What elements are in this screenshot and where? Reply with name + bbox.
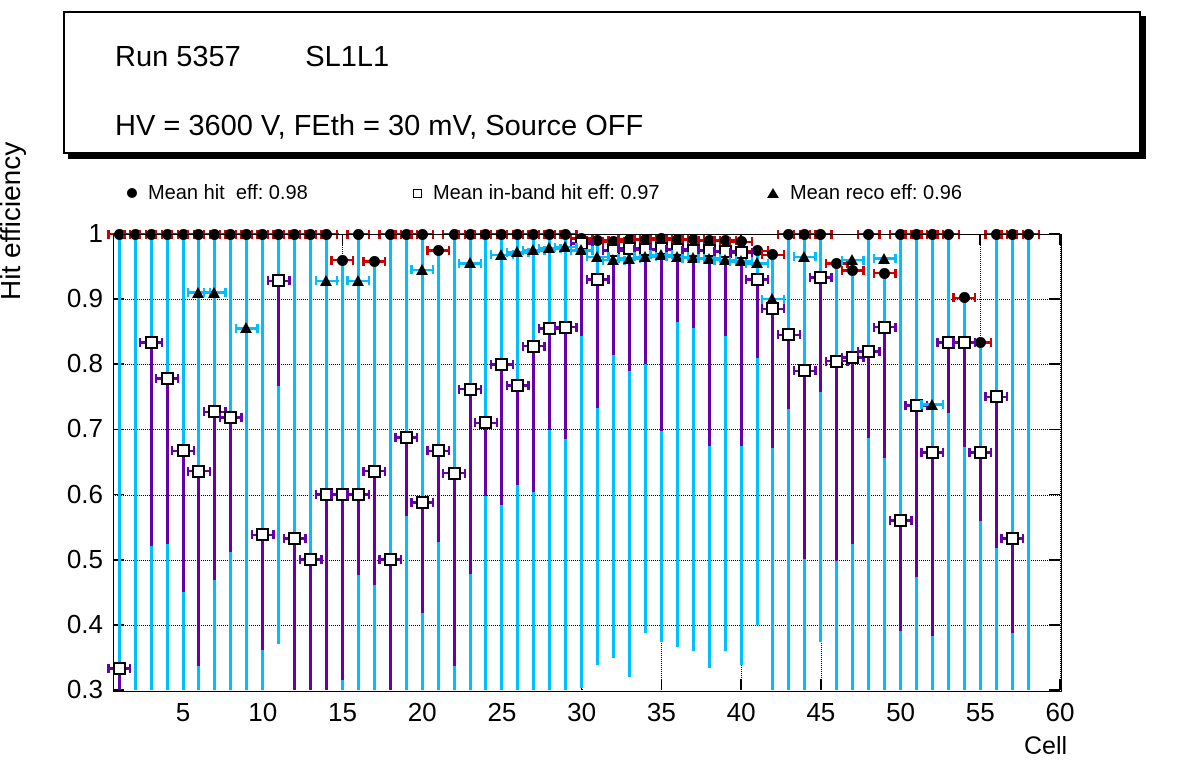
y-tick-label: 1 [33,218,103,249]
title-run-line: Run 5357 SL1L1 [115,41,389,74]
legend-entry-hit-eff: Mean hit eff: 0.98 [127,176,308,210]
y-tick-label: 0.3 [33,674,103,705]
chart-page: Run 5357 SL1L1 HV = 3600 V, FEth = 30 mV… [0,0,1196,772]
x-tick-label: 25 [472,697,532,728]
y-tick-label: 0.5 [33,544,103,575]
x-tick-label: 5 [153,697,213,728]
legend: Mean hit eff: 0.98 Mean in-band hit eff:… [113,176,1073,210]
x-tick-label: 15 [312,697,372,728]
y-tick-label: 0.8 [33,348,103,379]
y-tick-label: 0.6 [33,479,103,510]
inband-eff-cap [107,664,109,673]
filled-triangle-icon [767,188,779,198]
x-tick-label: 60 [1030,697,1090,728]
x-tick-label: 10 [233,697,293,728]
y-tick-label: 0.4 [33,609,103,640]
title-box: Run 5357 SL1L1 HV = 3600 V, FEth = 30 mV… [63,11,1141,154]
legend-entry-reco-eff: Mean reco eff: 0.96 [767,176,962,210]
x-tick-label: 45 [791,697,851,728]
hit-eff-cap [107,230,109,239]
plot-frame [113,234,1062,692]
legend-label-inband-eff: Mean in-band hit eff: 0.97 [433,182,659,205]
legend-label-reco-eff: Mean reco eff: 0.96 [790,182,962,205]
legend-label-hit-eff: Mean hit eff: 0.98 [148,182,308,205]
y-axis-title: Hit efficiency [0,0,27,300]
x-tick-label: 55 [950,697,1010,728]
y-tick-label: 0.7 [33,413,103,444]
filled-circle-icon [127,188,137,198]
x-tick-label: 50 [871,697,931,728]
title-conditions-line: HV = 3600 V, FEth = 30 mV, Source OFF [115,110,643,143]
x-axis-title: Cell [1024,732,1067,761]
x-tick-label: 40 [711,697,771,728]
legend-entry-inband-eff: Mean in-band hit eff: 0.97 [413,176,659,210]
open-square-icon [413,189,422,198]
x-tick-label: 35 [631,697,691,728]
x-tick-label: 30 [552,697,612,728]
y-tick-label: 0.9 [33,283,103,314]
x-tick-label: 20 [392,697,452,728]
